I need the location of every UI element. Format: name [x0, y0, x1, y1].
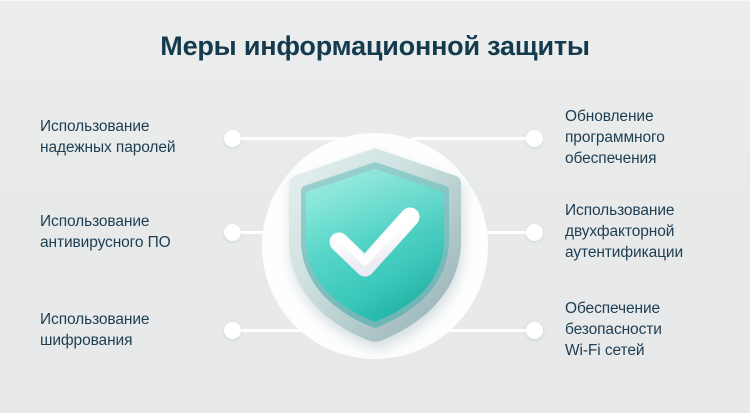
- label-line: Обновление: [565, 106, 750, 127]
- measure-label-strong-passwords: Использование надежных паролей: [40, 116, 240, 158]
- measure-label-encryption: Использование шифрования: [40, 309, 240, 351]
- label-line: Использование: [565, 200, 750, 221]
- label-line: Обеспечение: [565, 298, 750, 319]
- infographic-root: Меры информационной защиты: [0, 0, 750, 413]
- measure-label-wifi-security: Обеспечение безопасности Wi-Fi сетей: [565, 298, 750, 361]
- connector-dot-right-1: [526, 130, 543, 147]
- measure-label-two-factor-auth: Использование двухфакторной аутентификац…: [565, 200, 750, 263]
- label-line: аутентификации: [565, 242, 750, 263]
- left-label-column: Использование надежных паролей Использов…: [40, 0, 260, 413]
- label-line: программного: [565, 127, 750, 148]
- label-line: двухфакторной: [565, 221, 750, 242]
- shield-check-icon: [280, 145, 470, 345]
- right-label-column: Обновление программного обеспечения Испо…: [565, 0, 750, 413]
- label-line: шифрования: [40, 330, 240, 351]
- center-icon-stage: [262, 133, 488, 359]
- label-line: безопасности: [565, 319, 750, 340]
- measure-label-software-updates: Обновление программного обеспечения: [565, 106, 750, 169]
- label-line: Использование: [40, 309, 240, 330]
- connector-dot-right-2: [526, 224, 543, 241]
- label-line: антивирусного ПО: [40, 232, 240, 253]
- label-line: надежных паролей: [40, 137, 240, 158]
- connector-dot-right-3: [526, 322, 543, 339]
- label-line: обеспечения: [565, 148, 750, 169]
- label-line: Использование: [40, 211, 240, 232]
- label-line: Использование: [40, 116, 240, 137]
- measure-label-antivirus-software: Использование антивирусного ПО: [40, 211, 240, 253]
- label-line: Wi-Fi сетей: [565, 340, 750, 361]
